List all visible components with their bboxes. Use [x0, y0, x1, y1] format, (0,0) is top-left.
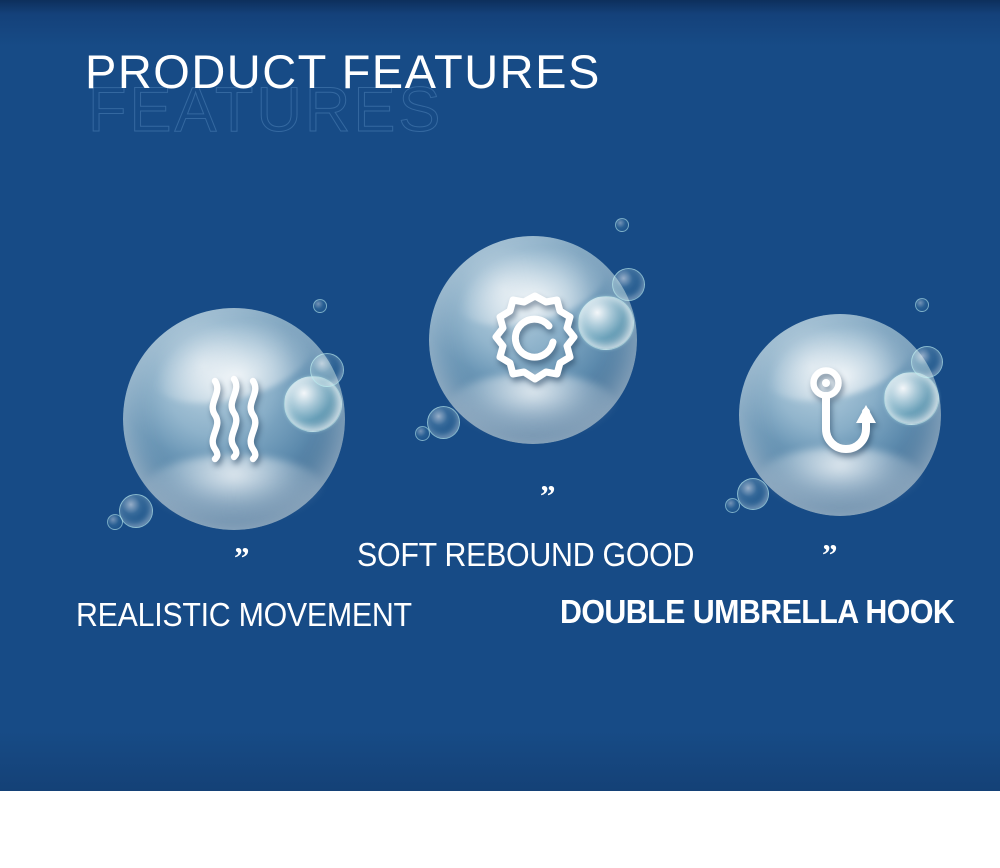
quote-mark-icon: ” [540, 480, 556, 511]
satellite-bubble [313, 299, 327, 313]
feature-bubble-3 [739, 314, 941, 516]
bubble-gloss-highlight [884, 372, 939, 425]
satellite-bubble [107, 514, 123, 530]
product-features-banner: FEATURES PRODUCT FEATURES [0, 0, 1000, 868]
bubble-bottom-glow [759, 447, 921, 508]
satellite-bubble [612, 268, 645, 301]
bubble-gloss-highlight [578, 296, 634, 350]
page-title: PRODUCT FEATURES [85, 44, 601, 99]
feature-bubble-1 [123, 308, 345, 530]
satellite-bubble [415, 426, 430, 441]
hero-panel: FEATURES PRODUCT FEATURES [0, 0, 1000, 791]
feature-label: SOFT REBOUND GOOD [357, 538, 694, 571]
satellite-bubble [119, 494, 153, 528]
feature-caption-2: ” SOFT REBOUND GOOD [357, 538, 724, 571]
feature-label: REALISTIC MOVEMENT [76, 598, 412, 631]
hero-bottom-fade [0, 731, 1000, 791]
satellite-bubble [915, 298, 929, 312]
satellite-bubble [911, 346, 943, 378]
bubble-bottom-glow [450, 373, 616, 435]
satellite-bubble [310, 353, 344, 387]
feature-bubble-2 [429, 236, 637, 444]
feature-caption-1: ” REALISTIC MOVEMENT [76, 598, 441, 631]
bubble-bottom-glow [145, 455, 323, 522]
feature-label: DOUBLE UMBRELLA HOOK [560, 595, 954, 628]
satellite-bubble [725, 498, 740, 513]
satellite-bubble [615, 218, 629, 232]
feature-caption-3: ” DOUBLE UMBRELLA HOOK [560, 595, 989, 628]
satellite-bubble [737, 478, 769, 510]
quote-mark-icon: ” [822, 539, 838, 570]
quote-mark-icon: ” [234, 542, 250, 573]
page-title-block: FEATURES PRODUCT FEATURES [85, 44, 965, 144]
footer-strip [0, 791, 1000, 868]
satellite-bubble [427, 406, 460, 439]
